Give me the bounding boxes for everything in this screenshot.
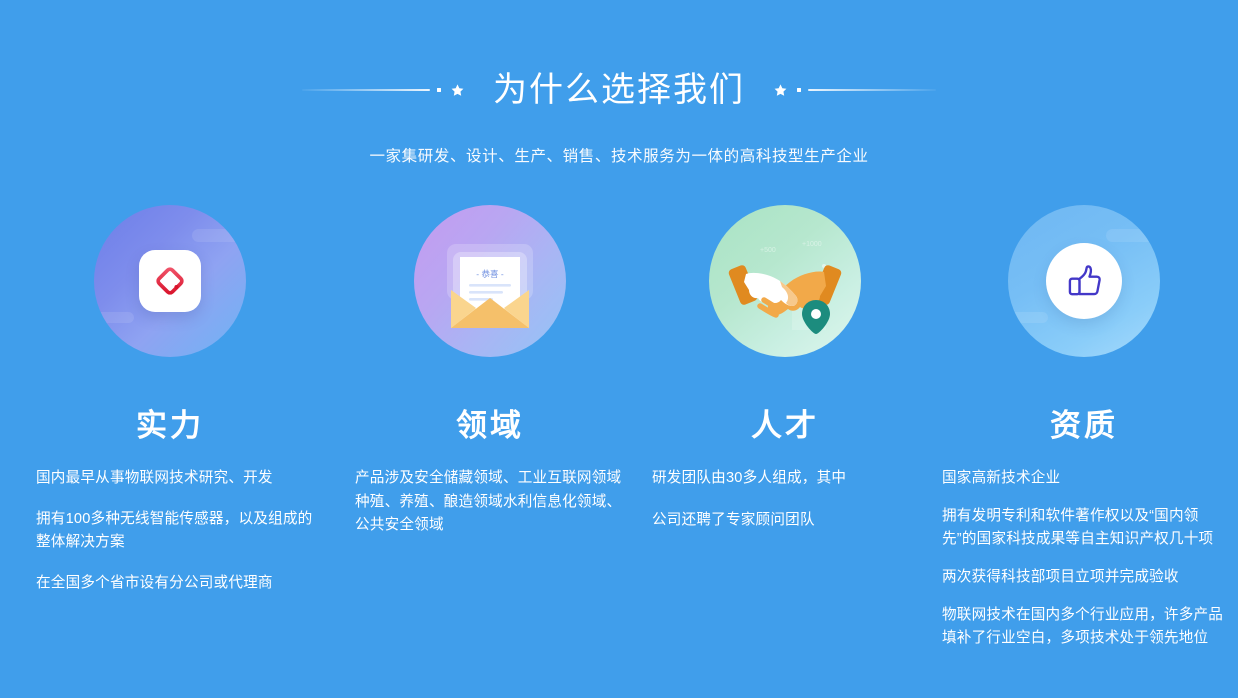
feature-column-field: - 恭喜 - 领域 产品涉及安全储藏领域、工业互联网领域种殖、养殖、酿 (340, 205, 640, 665)
sheen-highlight (1106, 229, 1160, 242)
title-row: 为什么选择我们 (0, 62, 1238, 118)
icon-wrap: +500 +1000 (640, 205, 930, 357)
list-item: 两次获得科技部项目立项并完成验收 (942, 566, 1226, 590)
diamond-badge-icon (94, 205, 246, 357)
column-heading: 实力 (0, 400, 340, 445)
list-item: 拥有100多种无线智能传感器，以及组成的整体解决方案 (36, 508, 324, 555)
list-item: 公司还聘了专家顾问团队 (652, 509, 914, 533)
letter-text: - 恭喜 - (476, 269, 504, 279)
column-body: 产品涉及安全储藏领域、工业互联网领域种殖、养殖、酿造领域水利信息化领域、公共安全… (340, 467, 640, 538)
decoration-left (302, 83, 465, 98)
decoration-line-icon (302, 89, 430, 91)
list-item: 拥有发明专利和软件著作权以及“国内领先”的国家科技成果等自主知识产权几十项 (942, 505, 1226, 552)
list-item: 研发团队由30多人组成，其中 (652, 467, 914, 491)
thumbs-up-icon (1008, 205, 1160, 357)
icon-wrap: - 恭喜 - (340, 205, 640, 357)
feature-column-strength: 实力 国内最早从事物联网技术研究、开发 拥有100多种无线智能传感器，以及组成的… (0, 205, 340, 665)
column-heading: 领域 (340, 400, 640, 445)
envelope-icon: - 恭喜 - (431, 228, 549, 340)
envelope-certificate-icon: - 恭喜 - (414, 205, 566, 357)
feature-columns: 实力 国内最早从事物联网技术研究、开发 拥有100多种无线智能传感器，以及组成的… (0, 205, 1238, 665)
decoration-right (773, 83, 936, 98)
why-choose-us-section: 为什么选择我们 一家集研发、设计、生产、销售、技术服务为一体的高科技型生产企业 (0, 0, 1238, 698)
feature-column-talent: +500 +1000 (640, 205, 930, 665)
svg-text:+500: +500 (760, 247, 776, 254)
star-icon (773, 83, 788, 98)
decoration-line-icon (808, 89, 936, 91)
column-body: 研发团队由30多人组成，其中 公司还聘了专家顾问团队 (640, 467, 930, 532)
section-header: 为什么选择我们 一家集研发、设计、生产、销售、技术服务为一体的高科技型生产企业 (0, 0, 1238, 166)
icon-card (1046, 243, 1122, 319)
list-item: 物联网技术在国内多个行业应用，许多产品填补了行业空白，多项技术处于领先地位 (942, 604, 1226, 651)
list-item: 产品涉及安全储藏领域、工业互联网领域种殖、养殖、酿造领域水利信息化领域、公共安全… (355, 467, 630, 538)
decoration-dot-icon (797, 88, 801, 92)
page-title: 为什么选择我们 (493, 73, 745, 107)
sheen-highlight (192, 229, 246, 242)
diamond-icon (153, 264, 187, 298)
list-item: 国内最早从事物联网技术研究、开发 (36, 467, 324, 491)
column-body: 国家高新技术企业 拥有发明专利和软件著作权以及“国内领先”的国家科技成果等自主知… (930, 467, 1238, 651)
thumb-up-glyph-icon (1064, 261, 1104, 301)
feature-column-qualification: 资质 国家高新技术企业 拥有发明专利和软件著作权以及“国内领先”的国家科技成果等… (930, 205, 1238, 665)
handshake-icon: +500 +1000 (720, 226, 850, 336)
star-icon (450, 83, 465, 98)
icon-wrap (930, 205, 1238, 357)
column-body: 国内最早从事物联网技术研究、开发 拥有100多种无线智能传感器，以及组成的整体解… (0, 467, 340, 596)
sheen-highlight (1008, 312, 1048, 323)
column-heading: 资质 (930, 400, 1238, 445)
svg-text:+1000: +1000 (802, 241, 822, 248)
handshake-location-icon: +500 +1000 (709, 205, 861, 357)
column-heading: 人才 (640, 400, 930, 445)
sheen-highlight (94, 312, 134, 323)
icon-card (139, 250, 201, 312)
list-item: 国家高新技术企业 (942, 467, 1226, 491)
list-item: 在全国多个省市设有分公司或代理商 (36, 572, 324, 596)
icon-wrap (0, 205, 340, 357)
decoration-dot-icon (437, 88, 441, 92)
section-subtitle: 一家集研发、设计、生产、销售、技术服务为一体的高科技型生产企业 (0, 144, 1238, 166)
